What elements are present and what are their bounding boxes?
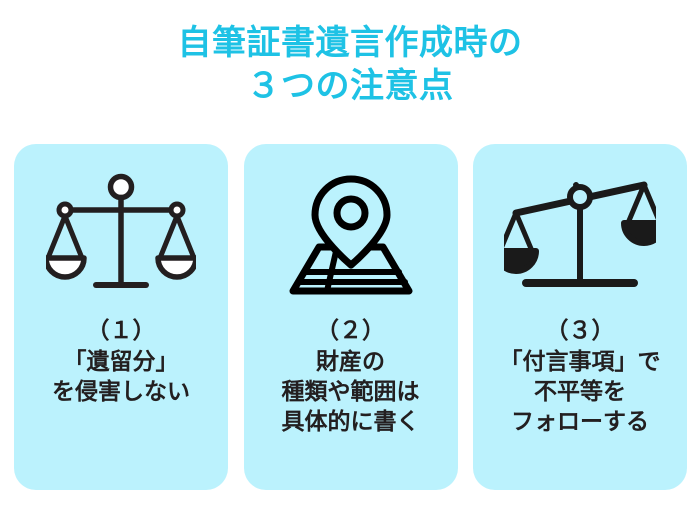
title-line-1: 自筆証書遺言作成時の (0, 22, 700, 65)
page-title: 自筆証書遺言作成時の ３つの注意点 (0, 22, 700, 108)
card-1: （１） 「遺留分」 を侵害しない (14, 144, 228, 490)
card-3-number: （３） (500, 314, 661, 346)
card-3-text: （３） 「付言事項」で 不平等を フォローする (500, 314, 661, 436)
balanced-scales-icon (36, 166, 206, 306)
card-3: （３） 「付言事項」で 不平等を フォローする (473, 144, 687, 490)
card-2-line-2: 種類や範囲は (282, 376, 420, 406)
card-2: （２） 財産の 種類や範囲は 具体的に書く (244, 144, 458, 490)
card-1-number: （１） (52, 314, 190, 346)
cards-row: （１） 「遺留分」 を侵害しない (14, 144, 687, 490)
card-2-number: （２） (282, 314, 420, 346)
card-1-text: （１） 「遺留分」 を侵害しない (52, 314, 190, 406)
tilted-scales-icon (495, 166, 665, 306)
card-3-line-1: 「付言事項」で (500, 346, 661, 376)
card-1-line-1: 「遺留分」 (52, 346, 190, 376)
infographic-page: 自筆証書遺言作成時の ３つの注意点 (0, 0, 700, 525)
card-2-text: （２） 財産の 種類や範囲は 具体的に書く (282, 314, 420, 436)
map-pin-location-icon (266, 166, 436, 306)
card-3-line-3: フォローする (500, 406, 661, 436)
card-3-line-2: 不平等を (500, 376, 661, 406)
card-1-line-2: を侵害しない (52, 376, 190, 406)
title-line-2: ３つの注意点 (0, 65, 700, 108)
card-2-line-1: 財産の (282, 346, 420, 376)
card-2-line-3: 具体的に書く (282, 406, 420, 436)
